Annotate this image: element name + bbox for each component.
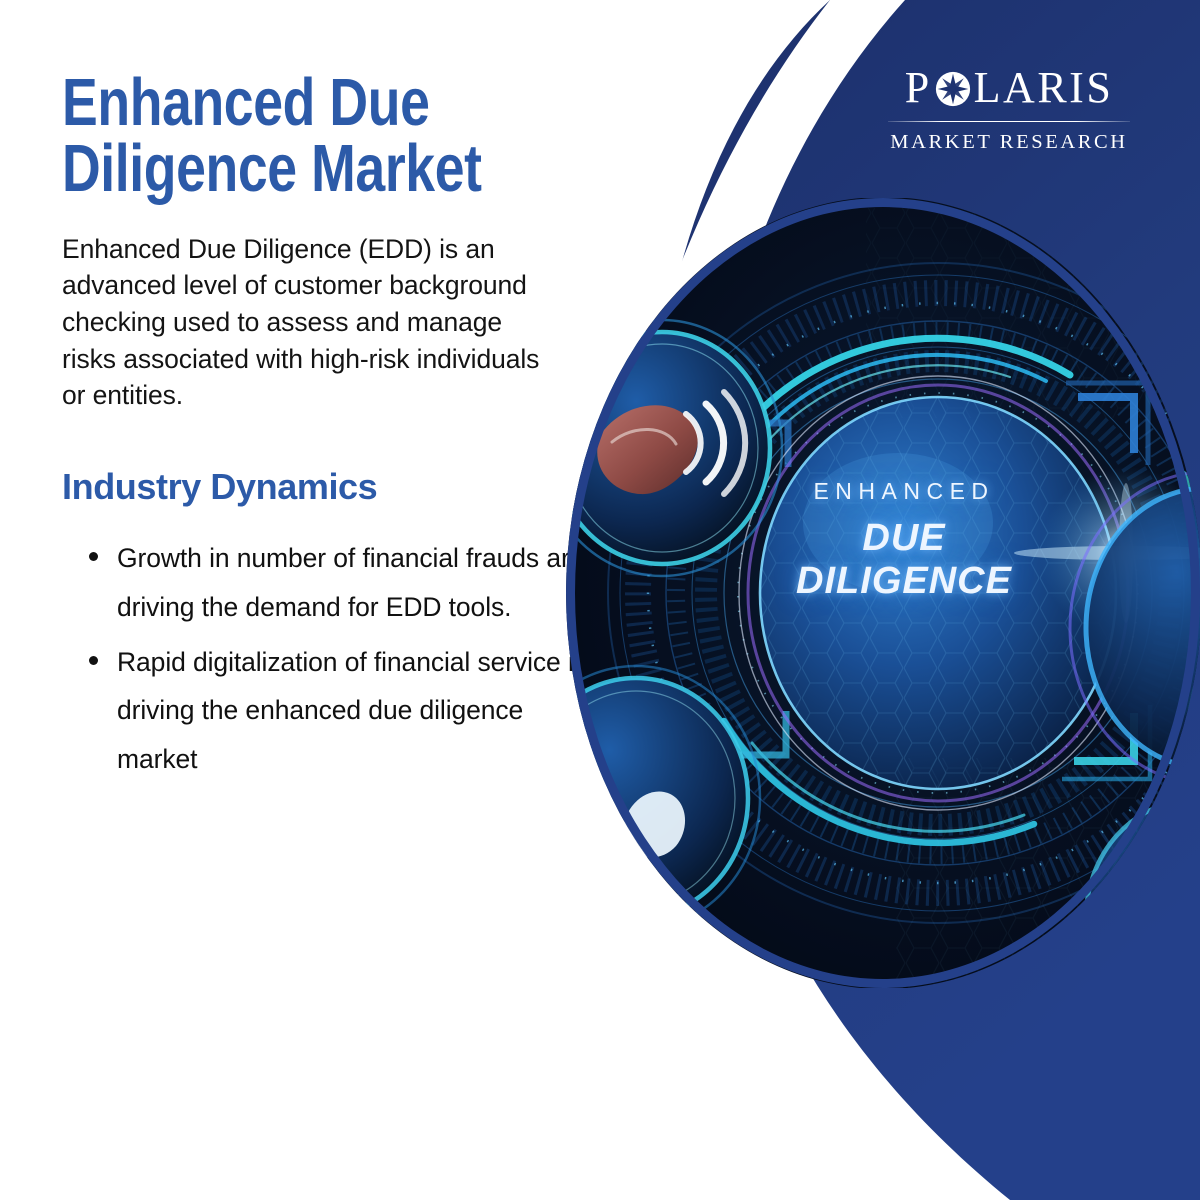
industry-dynamics-list: Growth in number of financial frauds are… [62, 534, 622, 784]
logo-wordmark: P LARIS [886, 66, 1132, 110]
page-title: Enhanced Due Diligence Market [62, 70, 622, 203]
intro-paragraph: Enhanced Due Diligence (EDD) is an advan… [62, 231, 562, 414]
compass-star-icon [933, 69, 973, 109]
hero-label-top: ENHANCED [764, 478, 1044, 505]
list-item-text: Rapid digitalization of financial servic… [117, 647, 587, 775]
list-item: Growth in number of financial frauds are… [62, 534, 607, 632]
hero-image-clip: ENHANCED DUE DILIGENCE [566, 198, 1200, 988]
list-item-text: Growth in number of financial frauds are… [117, 543, 584, 622]
logo-word-part1: P [905, 66, 932, 110]
content-column: Enhanced Due Diligence Market Enhanced D… [62, 70, 622, 790]
hero-image: ENHANCED DUE DILIGENCE [566, 198, 1200, 988]
logo-word-part2: LARIS [974, 66, 1114, 110]
hero-label: ENHANCED DUE DILIGENCE [764, 478, 1044, 602]
list-item: Rapid digitalization of financial servic… [62, 638, 607, 784]
brand-logo: P LARIS MARKET RESEARCH [886, 66, 1132, 154]
hero-label-line1: DUE [764, 517, 1044, 560]
section-heading-industry-dynamics: Industry Dynamics [62, 466, 622, 508]
bullet-dot-icon [89, 656, 98, 665]
hero-label-line2: DILIGENCE [764, 560, 1044, 603]
bullet-dot-icon [89, 552, 98, 561]
logo-subtitle: MARKET RESEARCH [886, 131, 1132, 154]
logo-divider [888, 121, 1130, 122]
